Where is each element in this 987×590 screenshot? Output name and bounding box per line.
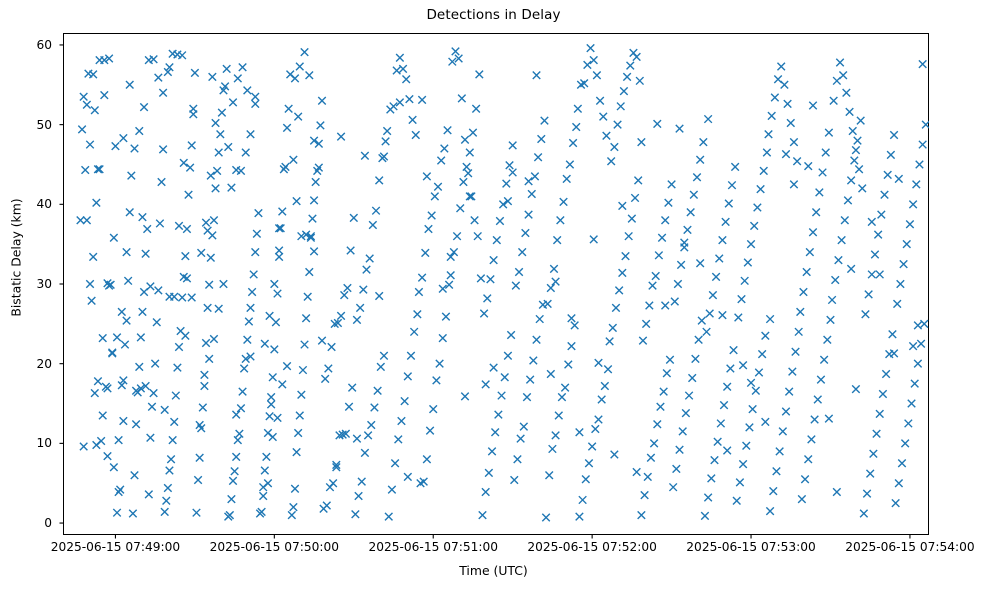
scatter-marker xyxy=(310,248,318,256)
scatter-marker xyxy=(360,286,368,293)
x-tick-label: 2025-06-15 07:51:00 xyxy=(369,540,498,554)
scatter-marker xyxy=(760,167,768,175)
scatter-marker xyxy=(259,492,267,500)
scatter-marker xyxy=(271,280,279,288)
scatter-marker xyxy=(920,320,928,328)
x-tick-label: 2025-06-15 07:53:00 xyxy=(686,540,815,554)
scatter-marker xyxy=(631,194,639,202)
scatter-marker xyxy=(871,251,879,259)
scatter-marker xyxy=(285,105,293,113)
scatter-marker xyxy=(484,295,492,303)
scatter-marker xyxy=(232,411,240,419)
scatter-marker xyxy=(614,121,622,129)
scatter-marker xyxy=(471,217,479,225)
scatter-marker xyxy=(593,71,601,79)
scatter-marker xyxy=(469,129,477,137)
scatter-marker xyxy=(482,381,490,389)
scatter-marker xyxy=(437,157,445,165)
scatter-marker xyxy=(175,222,183,230)
scatter-marker xyxy=(914,360,922,368)
scatter-marker xyxy=(660,388,668,396)
scatter-marker xyxy=(347,247,355,255)
scatter-marker xyxy=(151,360,159,368)
scatter-marker xyxy=(501,373,509,381)
scatter-marker xyxy=(700,138,708,146)
scatter-marker xyxy=(898,460,906,468)
scatter-marker xyxy=(518,248,526,256)
scatter-marker xyxy=(401,397,409,405)
scatter-marker xyxy=(696,156,704,164)
scatter-marker xyxy=(99,412,107,420)
scatter-marker xyxy=(183,225,191,233)
scatter-marker xyxy=(267,393,275,401)
scatter-marker xyxy=(113,334,121,342)
scatter-marker xyxy=(895,175,903,183)
scatter-marker xyxy=(903,240,911,248)
scatter-marker xyxy=(83,217,91,225)
scatter-marker xyxy=(429,405,437,413)
scatter-marker xyxy=(474,232,482,240)
scatter-marker xyxy=(420,478,428,486)
scatter-marker xyxy=(410,328,418,336)
scatter-marker xyxy=(847,177,855,185)
scatter-marker xyxy=(582,475,590,483)
scatter-marker xyxy=(892,499,900,507)
scatter-marker xyxy=(463,163,471,171)
scatter-marker xyxy=(375,177,383,185)
scatter-marker xyxy=(99,334,107,342)
scatter-marker xyxy=(832,276,840,284)
scatter-marker xyxy=(911,380,919,388)
scatter-marker xyxy=(638,138,646,146)
scatter-marker xyxy=(477,275,485,283)
scatter-marker xyxy=(207,172,215,180)
scatter-marker xyxy=(816,189,824,197)
scatter-marker xyxy=(166,467,174,475)
scatter-marker xyxy=(790,181,798,189)
scatter-marker xyxy=(859,185,867,193)
scatter-marker xyxy=(600,113,608,121)
scatter-marker xyxy=(669,483,677,491)
scatter-marker xyxy=(464,169,472,177)
scatter-marker xyxy=(348,384,356,392)
scatter-marker xyxy=(576,428,584,436)
scatter-marker xyxy=(503,180,511,188)
scatter-marker xyxy=(749,405,757,413)
scatter-marker xyxy=(290,156,298,164)
scatter-marker xyxy=(277,224,285,232)
scatter-marker xyxy=(480,310,488,318)
scatter-marker xyxy=(644,473,652,481)
scatter-marker xyxy=(396,99,404,107)
scatter-marker xyxy=(585,460,593,468)
scatter-marker xyxy=(207,254,215,262)
scatter-marker xyxy=(592,425,600,433)
scatter-marker xyxy=(228,184,236,192)
scatter-marker xyxy=(882,370,890,378)
scatter-marker xyxy=(425,225,433,233)
scatter-marker xyxy=(525,177,533,185)
scatter-marker xyxy=(720,401,728,409)
scatter-marker xyxy=(806,248,814,256)
scatter-marker xyxy=(356,304,364,312)
scatter-marker xyxy=(642,320,650,328)
scatter-marker xyxy=(776,448,784,456)
scatter-marker xyxy=(212,185,220,193)
scatter-marker xyxy=(634,177,642,185)
scatter-marker xyxy=(838,236,846,244)
scatter-marker xyxy=(196,454,204,462)
scatter-marker xyxy=(450,248,458,256)
scatter-marker xyxy=(439,285,447,293)
scatter-marker xyxy=(889,330,897,338)
scatter-marker xyxy=(711,456,719,464)
scatter-marker xyxy=(674,280,682,288)
scatter-marker xyxy=(919,141,927,149)
scatter-marker xyxy=(453,232,461,240)
scatter-marker xyxy=(654,420,662,428)
scatter-marker xyxy=(150,56,158,64)
scatter-marker xyxy=(779,428,787,436)
scatter-marker xyxy=(835,256,843,264)
scatter-marker xyxy=(733,497,741,505)
scatter-marker xyxy=(293,448,301,456)
scatter-marker xyxy=(245,318,253,326)
scatter-marker xyxy=(271,346,279,354)
scatter-marker xyxy=(654,120,662,128)
scatter-marker xyxy=(793,158,801,165)
scatter-marker xyxy=(574,105,582,113)
scatter-marker xyxy=(294,429,302,437)
scatter-marker xyxy=(901,440,909,448)
scatter-marker xyxy=(696,260,704,268)
scatter-marker xyxy=(878,211,886,219)
scatter-marker xyxy=(790,138,798,146)
scatter-marker xyxy=(175,343,183,351)
scatter-marker xyxy=(550,265,558,273)
scatter-marker xyxy=(275,247,283,255)
scatter-marker xyxy=(876,271,884,279)
scatter-marker xyxy=(215,305,223,313)
scatter-marker xyxy=(852,385,860,393)
scatter-marker xyxy=(808,436,816,444)
scatter-marker xyxy=(487,275,495,283)
scatter-marker xyxy=(137,334,145,342)
scatter-marker xyxy=(191,69,199,77)
scatter-marker xyxy=(736,479,744,487)
scatter-marker xyxy=(96,166,104,174)
scatter-marker xyxy=(746,424,754,432)
scatter-marker xyxy=(414,311,422,319)
scatter-marker xyxy=(415,288,423,296)
scatter-marker xyxy=(606,338,614,346)
scatter-marker xyxy=(161,406,169,414)
scatter-marker xyxy=(439,334,447,342)
scatter-marker xyxy=(197,249,205,256)
scatter-marker xyxy=(426,427,434,435)
scatter-marker xyxy=(825,415,833,423)
scatter-marker xyxy=(147,434,155,442)
scatter-marker xyxy=(655,252,663,260)
scatter-marker xyxy=(205,355,213,363)
scatter-marker xyxy=(863,490,871,498)
scatter-marker xyxy=(232,453,240,461)
scatter-marker xyxy=(723,447,731,455)
scatter-marker xyxy=(94,166,102,174)
scatter-marker xyxy=(506,162,514,170)
scatter-marker xyxy=(744,259,752,267)
scatter-marker xyxy=(89,71,97,79)
scatter-marker xyxy=(344,284,352,292)
scatter-marker xyxy=(770,487,778,495)
y-tick-label: 60 xyxy=(36,38,52,52)
scatter-marker xyxy=(809,228,817,236)
scatter-marker xyxy=(520,423,528,431)
scatter-marker xyxy=(402,75,410,83)
scatter-marker xyxy=(615,287,623,295)
scatter-marker xyxy=(730,346,738,354)
scatter-marker xyxy=(164,484,172,492)
scatter-marker xyxy=(590,56,598,64)
scatter-marker xyxy=(186,164,194,172)
y-tick-label: 0 xyxy=(44,516,52,530)
scatter-marker xyxy=(504,352,512,360)
scatter-marker xyxy=(306,268,314,276)
scatter-marker xyxy=(627,62,635,70)
scatter-marker xyxy=(218,109,226,117)
scatter-marker xyxy=(202,339,210,347)
scatter-marker xyxy=(383,127,391,135)
scatter-marker xyxy=(827,316,835,324)
scatter-marker xyxy=(771,94,779,102)
scatter-marker xyxy=(220,280,228,288)
scatter-marker xyxy=(240,365,248,373)
scatter-marker xyxy=(282,163,290,171)
scatter-marker xyxy=(865,291,873,299)
scatter-marker xyxy=(623,73,631,81)
scatter-marker xyxy=(328,343,336,351)
scatter-marker xyxy=(169,436,177,444)
scatter-marker xyxy=(531,173,539,181)
scatter-marker xyxy=(561,384,569,392)
scatter-marker xyxy=(325,365,333,373)
scatter-marker xyxy=(148,403,156,411)
scatter-marker xyxy=(787,119,795,127)
scatter-marker xyxy=(288,511,296,518)
scatter-marker xyxy=(83,101,91,109)
scatter-marker xyxy=(468,193,476,201)
scatter-marker xyxy=(155,287,163,295)
scatter-marker xyxy=(747,240,755,248)
scatter-marker xyxy=(873,430,881,438)
scatter-marker xyxy=(536,315,544,323)
scatter-marker xyxy=(396,54,404,62)
scatter-marker xyxy=(908,400,916,408)
scatter-marker xyxy=(844,197,852,205)
scatter-marker xyxy=(290,503,298,511)
scatter-marker xyxy=(868,271,876,279)
scatter-marker xyxy=(318,337,326,345)
scatter-marker xyxy=(80,93,88,101)
scatter-marker xyxy=(552,432,560,440)
scatter-marker xyxy=(828,296,836,304)
scatter-marker xyxy=(716,255,724,263)
scatter-marker xyxy=(620,87,628,95)
scatter-marker xyxy=(369,221,377,229)
scatter-marker xyxy=(129,510,137,518)
scatter-marker xyxy=(517,435,525,443)
scatter-marker xyxy=(768,112,776,120)
scatter-marker xyxy=(572,123,580,131)
scatter-marker xyxy=(436,360,444,368)
scatter-marker xyxy=(210,217,218,225)
scatter-marker xyxy=(447,253,455,261)
scatter-marker xyxy=(143,225,151,233)
scatter-marker xyxy=(116,486,124,494)
scatter-marker xyxy=(301,341,309,349)
scatter-marker xyxy=(123,248,131,256)
scatter-marker xyxy=(785,388,793,396)
scatter-marker xyxy=(215,149,223,157)
scatter-marker xyxy=(180,159,188,167)
scatter-marker xyxy=(485,469,493,477)
scatter-marker xyxy=(139,308,147,316)
scatter-marker xyxy=(353,435,361,443)
y-axis-label: Bistatic Delay (km) xyxy=(9,108,24,408)
scatter-marker xyxy=(704,494,712,502)
scatter-marker xyxy=(782,408,790,416)
scatter-marker xyxy=(91,389,99,397)
scatter-marker xyxy=(253,230,260,238)
scatter-marker xyxy=(843,89,851,97)
scatter-marker xyxy=(472,105,480,113)
scatter-marker xyxy=(391,460,399,468)
scatter-marker xyxy=(145,491,153,499)
scatter-marker xyxy=(719,236,727,244)
scatter-marker xyxy=(299,366,307,374)
scatter-marker xyxy=(77,217,85,225)
scatter-marker xyxy=(580,79,588,87)
scatter-marker xyxy=(374,387,382,395)
scatter-marker xyxy=(690,191,698,199)
scatter-marker xyxy=(752,387,760,395)
scatter-marker xyxy=(266,312,274,320)
scatter-marker xyxy=(817,376,825,384)
x-axis-label: Time (UTC) xyxy=(0,563,987,578)
scatter-marker xyxy=(870,450,878,458)
scatter-marker xyxy=(153,319,161,327)
scatter-marker xyxy=(229,477,237,485)
scatter-marker xyxy=(201,371,209,379)
scatter-marker xyxy=(461,393,469,401)
scatter-marker xyxy=(854,137,862,145)
scatter-marker xyxy=(811,416,819,424)
scatter-marker xyxy=(687,209,695,217)
scatter-series xyxy=(63,33,929,535)
scatter-marker xyxy=(132,420,140,428)
scatter-marker xyxy=(685,392,693,400)
scatter-marker xyxy=(897,280,905,288)
scatter-marker xyxy=(275,224,283,232)
page-title: Detections in Delay xyxy=(0,7,987,23)
scatter-marker xyxy=(293,197,301,205)
scatter-marker xyxy=(128,172,136,180)
scatter-marker xyxy=(283,362,291,370)
scatter-marker xyxy=(228,495,236,503)
scatter-marker xyxy=(110,234,118,242)
scatter-marker xyxy=(671,298,679,306)
scatter-marker xyxy=(743,442,751,450)
scatter-marker xyxy=(661,217,669,225)
scatter-marker xyxy=(609,324,617,332)
scatter-marker xyxy=(91,107,99,115)
scatter-marker xyxy=(399,65,407,73)
scatter-marker xyxy=(242,149,250,157)
scatter-marker xyxy=(523,393,531,401)
scatter-marker xyxy=(800,288,808,296)
scatter-marker xyxy=(140,103,148,111)
scatter-marker xyxy=(358,478,366,486)
scatter-marker xyxy=(178,52,186,60)
scatter-marker xyxy=(298,391,306,399)
scatter-marker xyxy=(178,294,186,302)
scatter-marker xyxy=(849,127,857,135)
scatter-marker xyxy=(841,217,849,225)
y-tick-label: 40 xyxy=(36,197,52,211)
scatter-marker xyxy=(407,352,415,360)
scatter-marker xyxy=(852,146,860,154)
scatter-marker xyxy=(789,368,797,376)
scatter-marker xyxy=(264,479,272,487)
scatter-marker xyxy=(633,53,641,61)
scatter-marker xyxy=(341,291,349,299)
scatter-marker xyxy=(857,117,865,125)
scatter-marker xyxy=(881,191,889,199)
scatter-marker xyxy=(310,137,318,145)
scatter-marker xyxy=(283,124,291,132)
scatter-marker xyxy=(641,491,649,499)
scatter-marker xyxy=(709,291,717,299)
scatter-marker xyxy=(495,411,503,419)
scatter-marker xyxy=(557,217,565,225)
y-tick-label: 20 xyxy=(36,357,52,371)
scatter-marker xyxy=(887,151,895,159)
scatter-marker xyxy=(159,146,167,154)
scatter-marker xyxy=(498,392,506,400)
scatter-marker xyxy=(441,145,449,153)
scatter-marker xyxy=(913,181,921,189)
scatter-marker xyxy=(382,138,390,146)
scatter-marker xyxy=(547,284,555,292)
scatter-marker xyxy=(547,370,555,378)
scatter-marker xyxy=(549,445,557,453)
scatter-marker xyxy=(722,218,730,226)
scatter-marker xyxy=(646,302,654,310)
scatter-marker xyxy=(204,227,212,235)
scatter-marker xyxy=(795,328,803,336)
scatter-marker xyxy=(622,252,630,259)
scatter-marker xyxy=(248,288,256,296)
scatter-marker xyxy=(566,161,574,168)
scatter-marker xyxy=(693,173,701,181)
scatter-marker xyxy=(237,405,245,413)
scatter-marker xyxy=(804,162,812,170)
scatter-marker xyxy=(244,87,252,95)
scatter-marker xyxy=(509,142,517,150)
scatter-marker xyxy=(695,336,703,344)
scatter-marker xyxy=(183,275,191,283)
scatter-marker xyxy=(496,217,504,225)
